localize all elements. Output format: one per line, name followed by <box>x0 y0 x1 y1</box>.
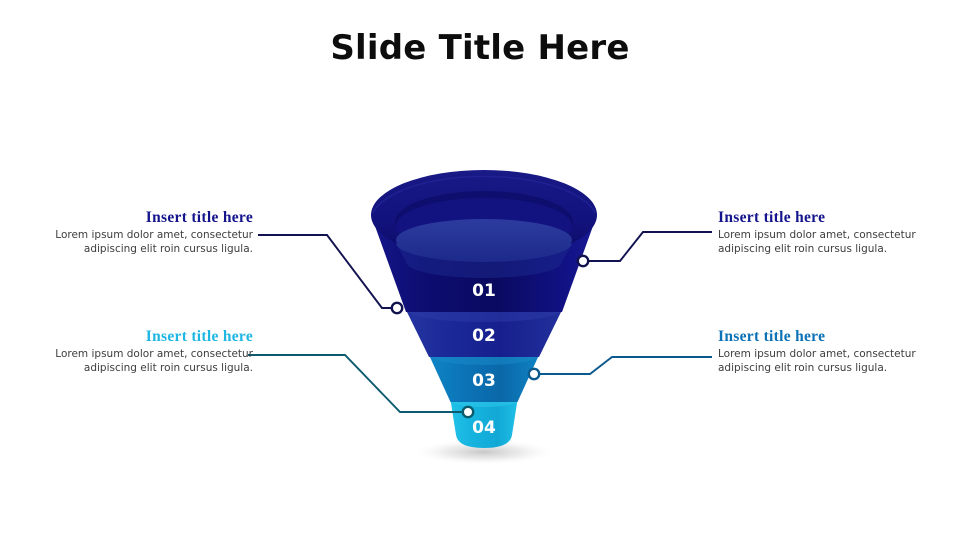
funnel-label-02: 02 <box>472 326 496 346</box>
callout-top-left: Insert title here Lorem ipsum dolor amet… <box>53 209 253 256</box>
callout-bottom-right-body: Lorem ipsum dolor amet, consectetur adip… <box>718 348 918 375</box>
connector-dot-bottom-left[interactable] <box>463 407 473 417</box>
connector-dot-top-right[interactable] <box>578 256 588 266</box>
callout-bottom-right: Insert title here Lorem ipsum dolor amet… <box>718 328 918 375</box>
callout-top-right: Insert title here Lorem ipsum dolor amet… <box>718 209 918 256</box>
callout-bottom-left: Insert title here Lorem ipsum dolor amet… <box>53 328 253 375</box>
funnel-label-04: 04 <box>472 418 496 438</box>
connector-top-right <box>578 232 712 266</box>
funnel-body <box>371 170 597 448</box>
callout-bottom-left-body: Lorem ipsum dolor amet, consectetur adip… <box>53 348 253 375</box>
callout-bottom-right-title: Insert title here <box>718 328 918 346</box>
slide-canvas: Slide Title Here <box>0 0 960 540</box>
connector-top-left <box>258 235 402 313</box>
callout-top-left-body: Lorem ipsum dolor amet, consectetur adip… <box>53 229 253 256</box>
callout-bottom-left-title: Insert title here <box>53 328 253 346</box>
funnel-label-01: 01 <box>472 281 496 301</box>
connector-bottom-right <box>529 357 712 379</box>
connector-dot-bottom-right[interactable] <box>529 369 539 379</box>
callout-top-left-title: Insert title here <box>53 209 253 227</box>
callout-top-right-title: Insert title here <box>718 209 918 227</box>
connector-dot-top-left[interactable] <box>392 303 402 313</box>
callout-top-right-body: Lorem ipsum dolor amet, consectetur adip… <box>718 229 918 256</box>
funnel-label-03: 03 <box>472 371 496 391</box>
funnel-diagram: 01 02 03 04 <box>0 0 960 540</box>
